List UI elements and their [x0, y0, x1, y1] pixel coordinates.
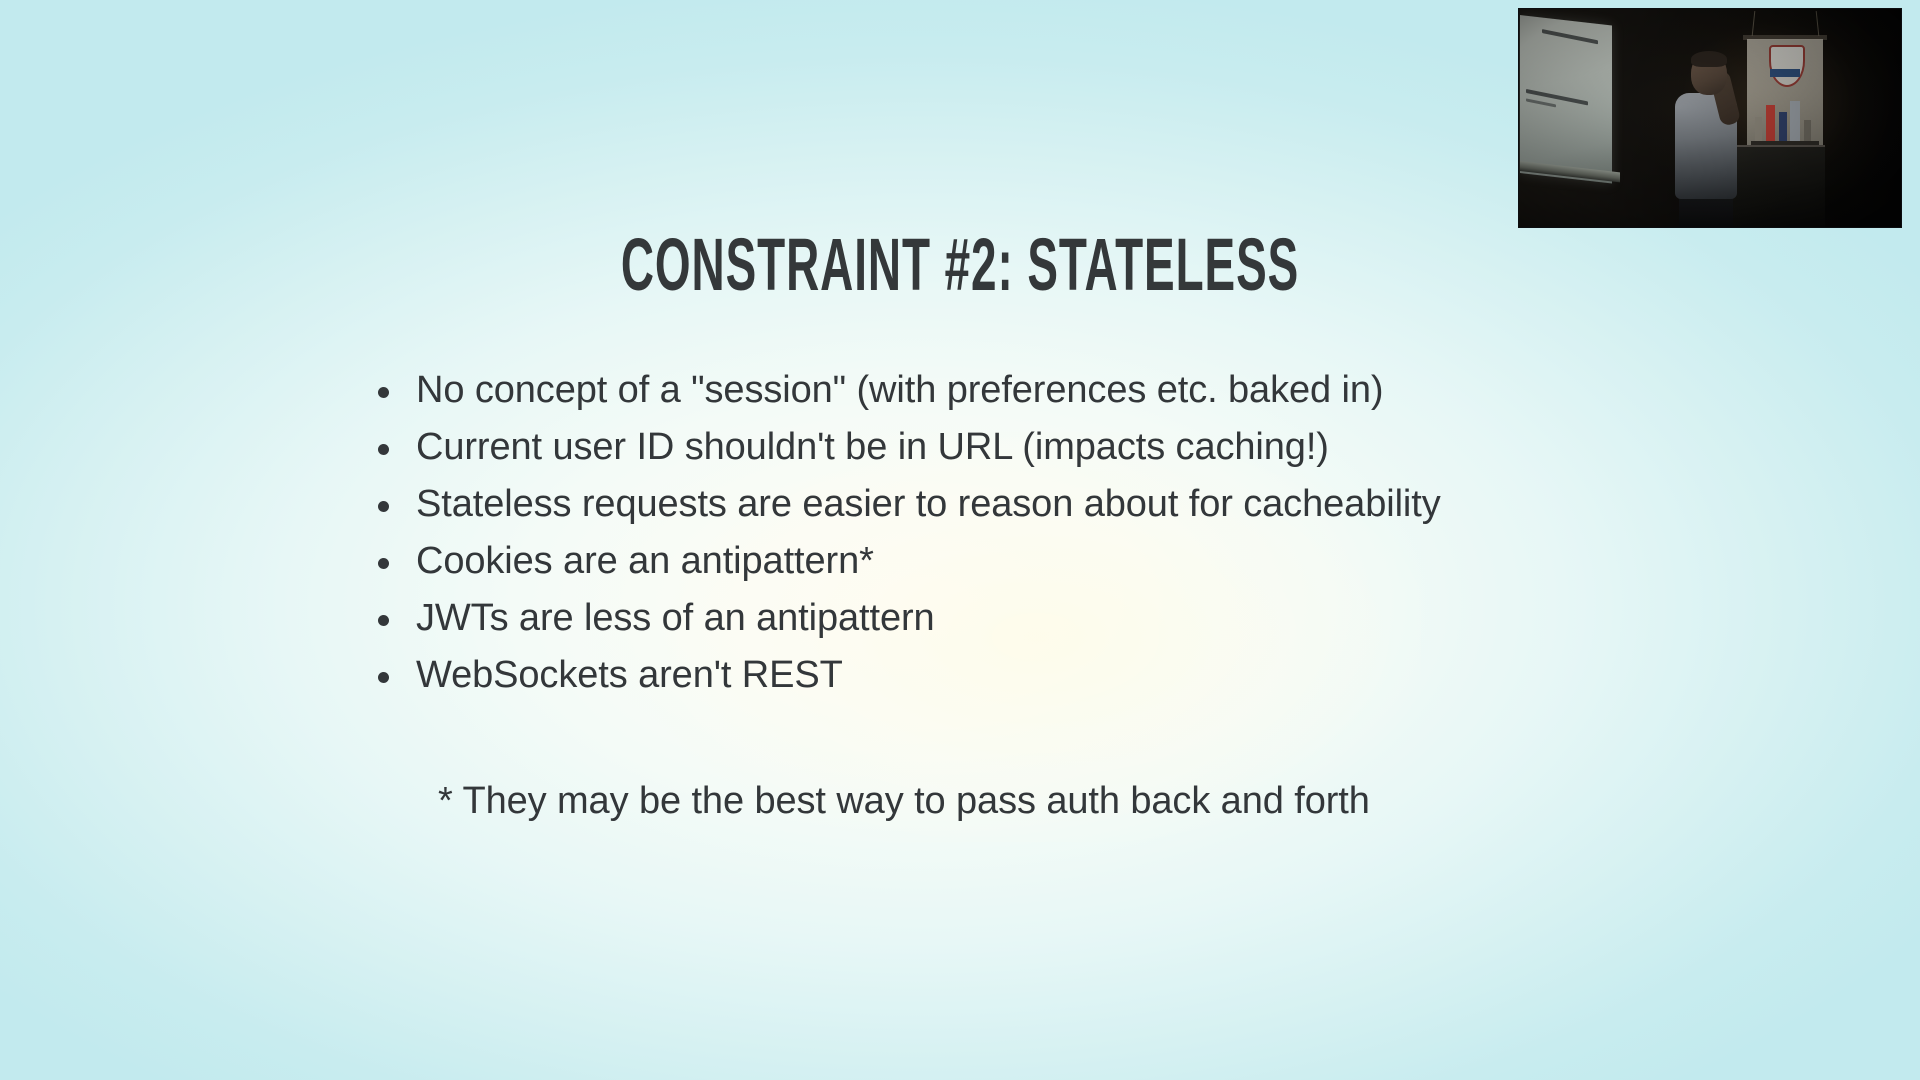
list-item: Cookies are an antipattern*: [372, 533, 1672, 590]
bullet-list: No concept of a "session" (with preferen…: [372, 362, 1672, 704]
presentation-slide: CONSTRAINT #2: STATELESS No concept of a…: [0, 0, 1920, 1080]
list-item: Current user ID shouldn't be in URL (imp…: [372, 419, 1672, 476]
list-item: Stateless requests are easier to reason …: [372, 476, 1672, 533]
slide-title: CONSTRAINT #2: STATELESS: [365, 226, 1555, 304]
footnote-text: * They may be the best way to pass auth …: [438, 775, 1370, 827]
list-item: No concept of a "session" (with preferen…: [372, 362, 1672, 419]
list-item: WebSockets aren't REST: [372, 647, 1672, 704]
list-item: JWTs are less of an antipattern: [372, 590, 1672, 647]
speaker-video-overlay[interactable]: [1518, 8, 1902, 228]
video-scene: [1519, 9, 1901, 227]
video-vignette: [1519, 9, 1901, 227]
